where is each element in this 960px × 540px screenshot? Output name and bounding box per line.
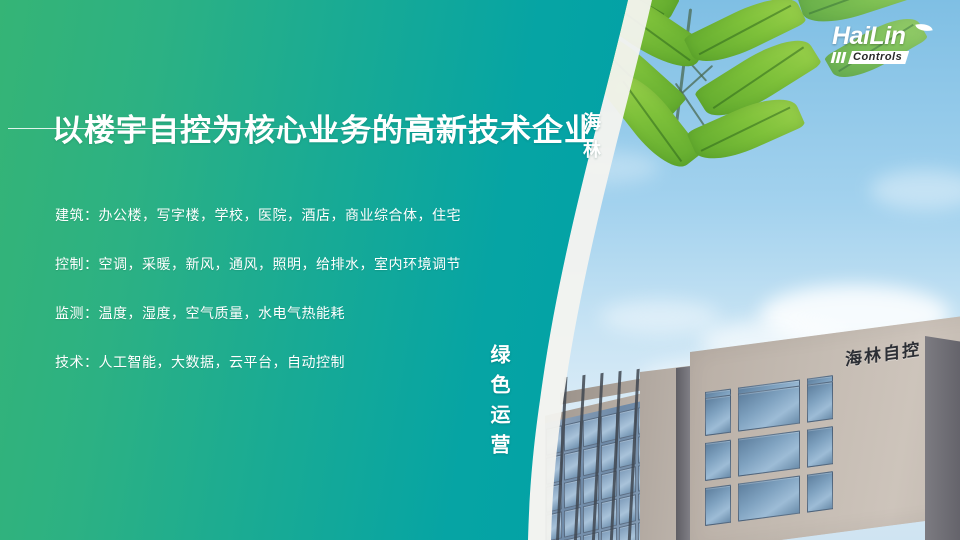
list-item: 技术：人工智能，大数据，云平台，自动控制: [55, 352, 525, 372]
window-pane: [705, 440, 731, 481]
list-item: 建筑：办公楼，写字楼，学校，医院，酒店，商业综合体，住宅: [55, 205, 525, 225]
window-pane: [705, 395, 731, 436]
title-divider: [8, 128, 560, 129]
window-pane: [807, 471, 833, 512]
logo-bars-icon: [832, 52, 845, 63]
logo-subtitle: Controls: [848, 51, 909, 64]
window-pane: [738, 475, 800, 521]
bullet-list: 建筑：办公楼，写字楼，学校，医院，酒店，商业综合体，住宅 控制：空调，采暖，新风…: [55, 205, 525, 401]
window-pane: [807, 381, 833, 422]
presentation-slide: 海林自控 HaiLin Controls: [0, 0, 960, 540]
vertical-slogan-top: 海林: [578, 112, 604, 168]
window-pane: [738, 430, 800, 476]
vertical-slogan-bottom: 绿色运营: [484, 344, 513, 464]
hailin-logo[interactable]: HaiLin Controls: [832, 24, 948, 68]
list-item: 监测：温度，湿度，空气质量，水电气热能耗: [55, 303, 525, 323]
logo-subtitle-row: Controls: [832, 51, 948, 64]
window-pane: [705, 485, 731, 526]
window-pane: [807, 426, 833, 467]
window-pane: [738, 385, 800, 431]
list-item: 控制：空调，采暖，新风，通风，照明，给排水，室内环境调节: [55, 254, 525, 274]
